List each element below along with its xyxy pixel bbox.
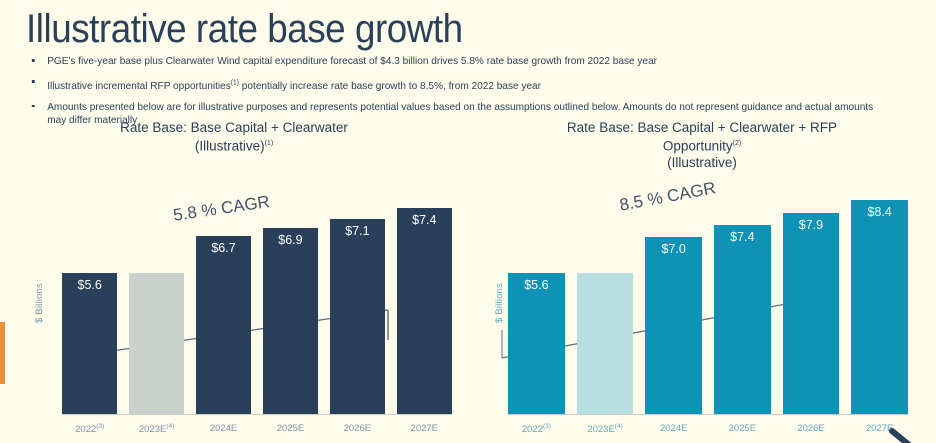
- chart-subtitle-line: (Illustrative)(1): [0, 136, 468, 155]
- x-label-2026E: 2026E: [783, 423, 840, 435]
- bar-slot-2023E[interactable]: [129, 190, 184, 415]
- chart-title-line2-row: Opportunity(2): [468, 136, 936, 155]
- x-label-2024E: 2024E: [196, 423, 251, 435]
- slide-root: Illustrative rate base growth PGE's five…: [0, 0, 936, 443]
- x-label-superscript: (4): [166, 423, 174, 430]
- bar-2027E[interactable]: $7.4: [397, 208, 452, 415]
- x-label-2024E: 2024E: [645, 423, 702, 435]
- x-axis-line: [508, 414, 908, 415]
- bar-2027E[interactable]: $8.4: [851, 200, 908, 415]
- x-label-2027E: 2027E: [397, 423, 452, 435]
- x-label-text: 2023E: [139, 424, 166, 435]
- bar-2023E[interactable]: [577, 273, 634, 415]
- chart-rate-base-base-capital-clearwater: Rate Base: Base Capital + Clearwater (Il…: [0, 118, 468, 443]
- bar-2026E[interactable]: $7.9: [783, 213, 840, 416]
- bar-2025E[interactable]: $6.9: [263, 228, 318, 415]
- x-label-text: 2022: [75, 424, 96, 435]
- bullet-dot-icon: [32, 105, 34, 108]
- bar-slot-2026E[interactable]: $7.1: [330, 190, 385, 415]
- bullet-text: PGE's five-year base plus Clearwater Win…: [47, 55, 657, 67]
- bar-value-label: $6.7: [196, 241, 251, 255]
- x-label-superscript: (3): [96, 423, 104, 430]
- bar-value-label: $7.4: [397, 213, 452, 227]
- bar-value-label: $7.0: [645, 242, 702, 256]
- x-axis-labels: 2022(3) 2023E(4) 2024E 2025E 2026E 2027E: [508, 423, 908, 435]
- chart-title-line1: Rate Base: Base Capital + Clearwater: [0, 120, 468, 136]
- x-label-2023E: 2023E(4): [577, 423, 634, 435]
- chart-rate-base-base-capital-clearwater-rfp: Rate Base: Base Capital + Clearwater + R…: [468, 118, 936, 443]
- chart-title-superscript: (2): [733, 140, 742, 147]
- corner-logo-icon: [870, 405, 930, 443]
- x-label-text: 2026E: [797, 423, 824, 434]
- y-axis-label: $ Billions: [34, 283, 45, 323]
- bar-2026E[interactable]: $7.1: [330, 219, 385, 415]
- bar-slot-2024E[interactable]: $6.7: [196, 190, 251, 415]
- bar-slot-2023E[interactable]: [577, 190, 634, 415]
- list-item: Illustrative incremental RFP opportuniti…: [28, 76, 882, 93]
- bar-2023E[interactable]: [129, 273, 184, 415]
- bar-2025E[interactable]: $7.4: [714, 225, 771, 415]
- bar-value-label: $7.1: [330, 224, 385, 238]
- x-label-text: 2027E: [411, 423, 438, 434]
- chart-subtitle: (Illustrative): [195, 139, 265, 154]
- bar-value-label: $8.4: [851, 205, 908, 219]
- bar-value-label: $6.9: [263, 233, 318, 247]
- x-label-2026E: 2026E: [330, 423, 385, 435]
- chart-title-line1: Rate Base: Base Capital + Clearwater + R…: [468, 120, 936, 136]
- bar-value-label: $5.6: [62, 278, 117, 292]
- bar-slot-2025E[interactable]: $7.4: [714, 190, 771, 415]
- x-label-text: 2022: [522, 424, 543, 435]
- x-label-text: 2024E: [210, 423, 237, 434]
- list-item: PGE's five-year base plus Clearwater Win…: [28, 55, 882, 68]
- chart-subtitle-superscript: (1): [265, 140, 274, 147]
- bullet-dot-icon: [32, 80, 34, 83]
- bar-value-label: $7.9: [783, 218, 840, 232]
- x-label-text: 2026E: [344, 423, 371, 434]
- chart-title-line2: Opportunity: [663, 139, 733, 154]
- x-label-text: 2025E: [729, 423, 756, 434]
- x-label-2022: 2022(3): [62, 423, 117, 435]
- chart-title: Rate Base: Base Capital + Clearwater + R…: [468, 120, 936, 171]
- x-label-2023E: 2023E(4): [129, 423, 184, 435]
- bar-slot-2024E[interactable]: $7.0: [645, 190, 702, 415]
- bar-slot-2022[interactable]: $5.6: [62, 190, 117, 415]
- x-label-text: 2025E: [277, 423, 304, 434]
- y-axis-label: $ Billions: [494, 283, 505, 323]
- bar-2024E[interactable]: $7.0: [645, 237, 702, 415]
- bar-2024E[interactable]: $6.7: [196, 236, 251, 415]
- bar-group: $5.6 $7.0 $7.4: [508, 190, 908, 415]
- chart-title: Rate Base: Base Capital + Clearwater (Il…: [0, 120, 468, 155]
- bar-2022[interactable]: $5.6: [62, 273, 117, 415]
- bullet-text: Illustrative incremental RFP opportuniti…: [47, 80, 541, 92]
- bar-slot-2022[interactable]: $5.6: [508, 190, 565, 415]
- chart-subtitle: (Illustrative): [468, 155, 936, 171]
- bar-value-label: $5.6: [508, 278, 565, 292]
- x-label-2022: 2022(3): [508, 423, 565, 435]
- x-label-superscript: (3): [543, 423, 551, 430]
- x-axis-labels: 2022(3) 2023E(4) 2024E 2025E 2026E 2027E: [62, 423, 452, 435]
- bar-2022[interactable]: $5.6: [508, 273, 565, 415]
- x-label-superscript: (4): [615, 423, 623, 430]
- x-label-2025E: 2025E: [263, 423, 318, 435]
- bar-slot-2027E[interactable]: $7.4: [397, 190, 452, 415]
- bullet-dot-icon: [32, 59, 34, 62]
- page-title: Illustrative rate base growth: [26, 6, 463, 52]
- bar-slot-2025E[interactable]: $6.9: [263, 190, 318, 415]
- bar-group: $5.6 $6.7 $6.9: [62, 190, 452, 415]
- x-label-text: 2023E: [587, 424, 614, 435]
- plot-area: $5.6 $7.0 $7.4: [508, 190, 908, 415]
- bar-slot-2026E[interactable]: $7.9: [783, 190, 840, 415]
- bar-value-label: $7.4: [714, 230, 771, 244]
- x-label-text: 2024E: [660, 423, 687, 434]
- x-label-2025E: 2025E: [714, 423, 771, 435]
- bar-slot-2027E[interactable]: $8.4: [851, 190, 908, 415]
- plot-area: $5.6 $6.7 $6.9: [62, 190, 452, 415]
- x-axis-line: [62, 414, 452, 415]
